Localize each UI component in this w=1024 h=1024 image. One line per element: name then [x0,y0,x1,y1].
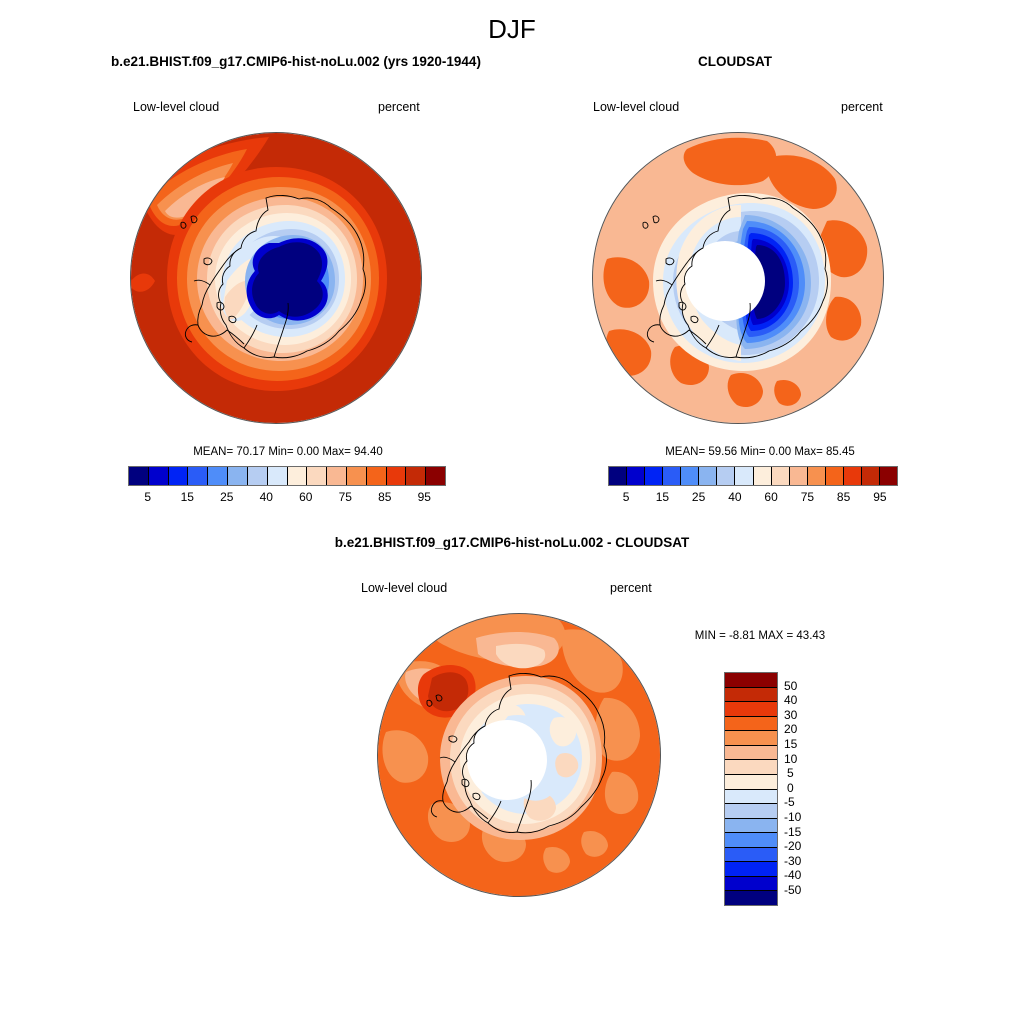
colorbar-tick: 40 [784,693,797,707]
colorbar-cell[interactable] [725,688,777,703]
colorbar-difference[interactable] [724,672,778,906]
colorbar-cell[interactable] [790,467,808,485]
colorbar-tick: 50 [784,679,797,693]
colorbar-cell[interactable] [681,467,699,485]
colorbar-cell[interactable] [725,804,777,819]
colorbar-cell[interactable] [169,467,189,485]
colorbar-cell[interactable] [735,467,753,485]
colorbar-cell[interactable] [627,467,645,485]
colorbar-cell[interactable] [725,790,777,805]
polar-map-difference[interactable] [376,612,662,898]
panel-title-difference: b.e21.BHIST.f09_g17.CMIP6-hist-noLu.002 … [212,535,812,550]
colorbar-obs[interactable]: 5 15 25 40 60 75 85 95 [608,466,898,510]
colorbar-cell[interactable] [725,775,777,790]
panel-title-model: b.e21.BHIST.f09_g17.CMIP6-hist-noLu.002 … [6,54,586,69]
colorbar-tick: -20 [784,839,801,853]
colorbar-tick: -30 [784,854,801,868]
colorbar-tick: 15 [784,737,797,751]
colorbar-tick: 60 [761,490,781,504]
colorbar-cell[interactable] [725,833,777,848]
panel-units-obs: percent [841,100,883,114]
map-contours-model [130,132,422,424]
colorbar-cell[interactable] [367,467,387,485]
colorbar-cell[interactable] [862,467,880,485]
colorbar-difference-ticks: 50 40 30 20 15 10 5 0 -5 -10 -15 -20 -30… [784,672,824,906]
polar-map-model-svg [129,131,423,425]
colorbar-cell[interactable] [406,467,426,485]
colorbar-cell[interactable] [347,467,367,485]
colorbar-cell[interactable] [208,467,228,485]
colorbar-tick: 85 [375,490,395,504]
colorbar-tick: 75 [335,490,355,504]
colorbar-tick: 15 [652,490,672,504]
colorbar-cell[interactable] [387,467,407,485]
colorbar-cell[interactable] [188,467,208,485]
colorbar-cell[interactable] [725,848,777,863]
colorbar-tick: -5 [784,795,795,809]
polar-map-obs-svg [591,131,885,425]
colorbar-cell[interactable] [663,467,681,485]
colorbar-tick: -40 [784,868,801,882]
colorbar-cell[interactable] [725,731,777,746]
colorbar-cell[interactable] [880,467,897,485]
colorbar-tick: -10 [784,810,801,824]
stats-model: MEAN= 70.17 Min= 0.00 Max= 94.40 [128,446,448,458]
stats-obs: MEAN= 59.56 Min= 0.00 Max= 85.45 [605,446,915,458]
colorbar-model-cells[interactable] [128,466,446,486]
colorbar-cell[interactable] [149,467,169,485]
colorbar-cell[interactable] [826,467,844,485]
panel-varlabel-obs: Low-level cloud [593,100,679,114]
colorbar-tick: 40 [725,490,745,504]
colorbar-cell[interactable] [699,467,717,485]
colorbar-tick: 5 [138,490,158,504]
colorbar-cell[interactable] [772,467,790,485]
panel-varlabel-model: Low-level cloud [133,100,219,114]
colorbar-cell[interactable] [754,467,772,485]
colorbar-cell[interactable] [725,862,777,877]
colorbar-tick: 60 [296,490,316,504]
polar-data-hole [467,720,547,800]
colorbar-cell[interactable] [725,702,777,717]
colorbar-cell[interactable] [808,467,826,485]
colorbar-tick: 85 [834,490,854,504]
colorbar-cell[interactable] [307,467,327,485]
panel-title-obs: CLOUDSAT [585,54,885,69]
colorbar-tick: 5 [787,766,794,780]
polar-map-model[interactable] [129,131,423,425]
colorbar-cell[interactable] [129,467,149,485]
colorbar-tick: 15 [177,490,197,504]
polar-map-difference-svg [376,612,662,898]
colorbar-model[interactable]: 5 15 25 40 60 75 85 95 [128,466,446,510]
colorbar-cell[interactable] [725,746,777,761]
stats-difference: MIN = -8.81 MAX = 43.43 [660,630,860,642]
colorbar-cell[interactable] [248,467,268,485]
colorbar-tick: 30 [784,708,797,722]
colorbar-tick: 75 [797,490,817,504]
colorbar-tick: -50 [784,883,801,897]
colorbar-tick: 20 [784,722,797,736]
colorbar-tick: 10 [784,752,797,766]
panel-units-model: percent [378,100,420,114]
colorbar-cell[interactable] [725,760,777,775]
colorbar-cell[interactable] [844,467,862,485]
colorbar-tick: 0 [787,781,794,795]
colorbar-cell[interactable] [228,467,248,485]
colorbar-tick: 5 [616,490,636,504]
colorbar-tick: 40 [256,490,276,504]
colorbar-cell[interactable] [725,891,777,905]
colorbar-cell[interactable] [717,467,735,485]
colorbar-tick: 95 [414,490,434,504]
colorbar-cell[interactable] [725,819,777,834]
colorbar-cell[interactable] [725,673,777,688]
polar-map-obs[interactable] [591,131,885,425]
colorbar-cell[interactable] [645,467,663,485]
colorbar-cell[interactable] [327,467,347,485]
colorbar-obs-cells[interactable] [608,466,898,486]
colorbar-cell[interactable] [725,877,777,892]
colorbar-tick: 25 [217,490,237,504]
colorbar-cell[interactable] [268,467,288,485]
season-title: DJF [0,14,1024,45]
colorbar-tick: -15 [784,825,801,839]
colorbar-tick: 25 [689,490,709,504]
colorbar-cell[interactable] [725,717,777,732]
colorbar-cell[interactable] [288,467,308,485]
panel-varlabel-difference: Low-level cloud [361,581,447,595]
map-contours-obs [592,132,884,424]
colorbar-cell[interactable] [426,467,445,485]
colorbar-cell[interactable] [609,467,627,485]
polar-data-hole [685,241,765,321]
panel-units-difference: percent [610,581,652,595]
colorbar-tick: 95 [870,490,890,504]
